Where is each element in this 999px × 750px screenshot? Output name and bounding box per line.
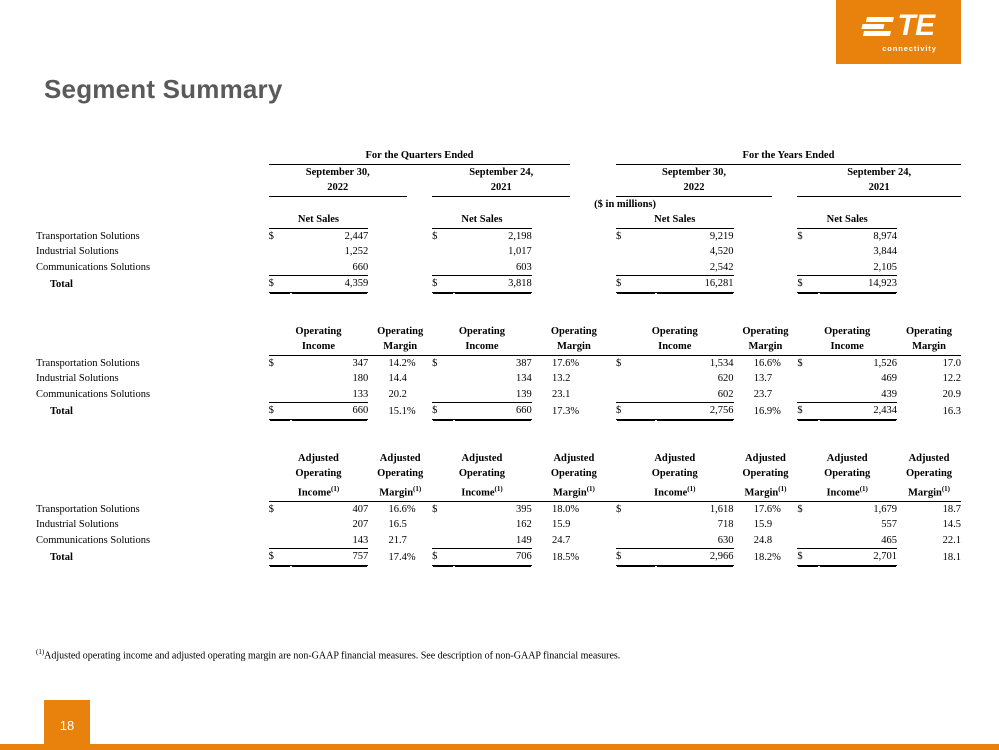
row-label-communications: Communications Solutions (36, 260, 269, 276)
table-row: Industrial Solutions 207 16.5 162 15.9 7… (36, 517, 961, 533)
row-label-communications: Communications Solutions (36, 387, 269, 403)
table-row: Communications Solutions 133 20.2 139 23… (36, 387, 961, 403)
cell-opmargin-y2022-total: 16.9 (734, 403, 773, 420)
footnote-marker: (1) (942, 485, 950, 493)
spacer-cell (772, 371, 797, 387)
spacer-cell (407, 244, 432, 260)
cell-adjincome-q2022-total: 757 (291, 549, 369, 566)
header-operating-l1-f: Operating (734, 324, 798, 340)
spacer-cell (269, 517, 291, 533)
header-operating-l1-d: Operating (532, 324, 616, 340)
currency-symbol: $ (432, 355, 454, 371)
spacer-cell (36, 212, 269, 228)
currency-symbol: $ (432, 403, 454, 420)
cell-adjmargin-q2021-industrial: 15.9 (532, 517, 571, 533)
cell-adjincome-q2022-industrial: 207 (291, 517, 369, 533)
footnote-marker: (1) (413, 485, 421, 493)
net-sales-header-row: Net Sales Net Sales Net Sales Net Sales (36, 212, 961, 228)
cell-adjmargin-q2022-industrial: 16.5 (368, 517, 407, 533)
cell-opincome-y2022-total: 2,756 (656, 403, 734, 420)
header-operating-l1-h: Operating (897, 324, 961, 340)
spacer-cell (407, 260, 432, 276)
spacer-cell (36, 466, 269, 482)
cell-opmargin-y2022-communications: 23.7 (734, 387, 773, 403)
spacer-cell (772, 260, 797, 276)
currency-symbol: $ (797, 276, 819, 293)
cell-opmargin-q2022-total: 15.1 (368, 403, 407, 420)
header-net-sales-y2022: Net Sales (616, 212, 734, 228)
cell-adjmargin-y2022-total: 18.2 (734, 549, 773, 566)
cell-opincome-q2021-total: 660 (454, 403, 532, 420)
units-note: ($ in millions) (570, 196, 656, 212)
spacer-cell (269, 260, 291, 276)
footnote-marker: (1) (860, 485, 868, 493)
cell-netsales-q2022-communications: 660 (291, 260, 369, 276)
cell-adjincome-q2021-total: 706 (454, 549, 532, 566)
group-header-quarters: For the Quarters Ended (269, 148, 571, 164)
logo-wordmark: TE (897, 11, 934, 41)
table-row-total: Total $ 4,359 $ 3,818 $ 16,281 $ 14,923 (36, 276, 961, 293)
spacer-cell (532, 244, 571, 260)
percent-symbol: % (570, 501, 616, 517)
header-adjusted-l1-a: Adjusted (269, 451, 369, 467)
cell-adjincome-q2021-communications: 149 (454, 533, 532, 549)
footnote-marker: (1) (587, 485, 595, 493)
cell-netsales-q2021-communications: 603 (454, 260, 532, 276)
spacer-cell (797, 517, 819, 533)
footnote-marker: (1) (331, 485, 339, 493)
spacer-cell (570, 533, 616, 549)
spacer-cell (368, 260, 407, 276)
period-y2021-line2: 2021 (797, 180, 961, 196)
cell-opmargin-q2022-industrial: 14.4 (368, 371, 407, 387)
cell-netsales-y2021-total: 14,923 (819, 276, 897, 293)
spacer-cell (797, 387, 819, 403)
currency-symbol: $ (432, 501, 454, 517)
row-label-total: Total (36, 403, 269, 420)
cell-adjincome-y2022-industrial: 718 (656, 517, 734, 533)
cell-opmargin-y2022-transportation: 16.6 (734, 355, 773, 371)
percent-symbol: % (407, 549, 432, 566)
period-q2021-line1: September 24, (432, 164, 570, 180)
cell-adjmargin-q2022-transportation: 16.6 (368, 501, 407, 517)
cell-adjmargin-q2021-communications: 24.7 (532, 533, 571, 549)
spacer-cell (368, 228, 407, 244)
period-y2021-line1: September 24, (797, 164, 961, 180)
currency-symbol: $ (269, 355, 291, 371)
logo-lockup: TE (862, 11, 934, 41)
cell-opincome-y2021-transportation: 1,526 (819, 355, 897, 371)
spacer-cell (36, 339, 269, 355)
spacer-cell (897, 244, 961, 260)
row-label-transportation: Transportation Solutions (36, 501, 269, 517)
period-y2022-line2: 2022 (616, 180, 772, 196)
spacer-cell (734, 228, 773, 244)
spacer-cell (616, 260, 656, 276)
spacer-cell (407, 387, 432, 403)
page-number: 18 (44, 700, 90, 750)
table-row: Industrial Solutions 180 14.4 134 13.2 6… (36, 371, 961, 387)
cell-netsales-y2021-industrial: 3,844 (819, 244, 897, 260)
spacer-cell (616, 244, 656, 260)
cell-opmargin-y2021-total: 16.3 (897, 403, 961, 420)
currency-symbol: $ (269, 228, 291, 244)
spacer-cell (407, 228, 432, 244)
adjusted-header-row-3: Income(1) Margin(1) Income(1) Margin(1) … (36, 482, 961, 502)
cell-netsales-q2022-total: 4,359 (291, 276, 369, 293)
header-text: Margin (379, 487, 413, 498)
row-label-industrial: Industrial Solutions (36, 517, 269, 533)
header-text: Margin (744, 487, 778, 498)
footer-accent-bar (0, 744, 999, 750)
cell-opmargin-q2021-communications: 23.1 (532, 387, 571, 403)
cell-opmargin-q2021-total: 17.3 (532, 403, 571, 420)
spacer-cell (407, 517, 432, 533)
spacer-cell (570, 164, 616, 180)
spacer-cell (432, 371, 454, 387)
cell-netsales-q2021-transportation: 2,198 (454, 228, 532, 244)
spacer-cell (36, 180, 269, 196)
header-operating-margin-q2021: Margin (532, 339, 616, 355)
spacer-cell (407, 180, 432, 196)
row-label-transportation: Transportation Solutions (36, 228, 269, 244)
cell-adjmargin-y2022-industrial: 15.9 (734, 517, 773, 533)
header-adjusted-l1-b: Adjusted (368, 451, 432, 467)
cell-netsales-q2021-total: 3,818 (454, 276, 532, 293)
header-net-sales-q2022: Net Sales (269, 212, 369, 228)
header-adjusted-l2-d: Operating (532, 466, 616, 482)
percent-symbol: % (407, 501, 432, 517)
currency-symbol: $ (269, 549, 291, 566)
spacer-cell (368, 276, 407, 293)
header-net-sales-q2021: Net Sales (432, 212, 532, 228)
header-text: Margin (908, 487, 942, 498)
cell-opmargin-y2021-communications: 20.9 (897, 387, 961, 403)
spacer-cell (616, 371, 656, 387)
header-operating-l1-a: Operating (269, 324, 369, 340)
cell-adjmargin-y2022-communications: 24.8 (734, 533, 773, 549)
header-operating-income-y2021: Income (797, 339, 897, 355)
header-adjincome-q2021: Income(1) (432, 482, 532, 502)
spacer-cell (532, 260, 571, 276)
period-date-row-1: September 30, September 24, September 30… (36, 164, 961, 180)
spacer-cell (772, 228, 797, 244)
cell-adjincome-y2021-communications: 465 (819, 533, 897, 549)
cell-adjincome-q2022-transportation: 407 (291, 501, 369, 517)
spacer-cell (432, 260, 454, 276)
te-bars-icon (860, 17, 894, 36)
currency-symbol: $ (616, 276, 656, 293)
header-adjmargin-q2021: Margin(1) (532, 482, 616, 502)
spacer-cell (407, 533, 432, 549)
spacer-cell (407, 164, 432, 180)
cell-adjmargin-y2021-industrial: 14.5 (897, 517, 961, 533)
percent-symbol: % (570, 355, 616, 371)
header-operating-income-y2022: Income (616, 339, 734, 355)
cell-adjmargin-y2021-communications: 22.1 (897, 533, 961, 549)
header-adjmargin-q2022: Margin(1) (368, 482, 432, 502)
cell-adjmargin-q2022-total: 17.4 (368, 549, 407, 566)
spacer-cell (772, 533, 797, 549)
spacer-cell (36, 148, 269, 164)
spacer-cell (734, 260, 773, 276)
currency-symbol: $ (432, 549, 454, 566)
header-adjusted-l2-e: Operating (616, 466, 734, 482)
spacer-cell (897, 276, 961, 293)
cell-adjincome-y2021-total: 2,701 (819, 549, 897, 566)
spacer-cell (432, 244, 454, 260)
row-label-total: Total (36, 549, 269, 566)
header-adjusted-l1-f: Adjusted (734, 451, 798, 467)
cell-opmargin-y2021-transportation: 17.0 (897, 355, 961, 371)
spacer-cell (616, 517, 656, 533)
section-spacer (36, 308, 961, 324)
cell-opmargin-q2021-industrial: 13.2 (532, 371, 571, 387)
spacer-cell (570, 228, 616, 244)
header-operating-income-q2022: Income (269, 339, 369, 355)
section-spacer (36, 435, 961, 451)
cell-adjincome-y2021-transportation: 1,679 (819, 501, 897, 517)
adjusted-header-row-2: Operating Operating Operating Operating … (36, 466, 961, 482)
spacer-cell (772, 244, 797, 260)
period-date-row-2: 2022 2021 2022 2021 (36, 180, 961, 196)
cell-adjincome-q2022-communications: 143 (291, 533, 369, 549)
spacer-cell (368, 212, 432, 228)
te-connectivity-logo: TE connectivity (836, 0, 961, 64)
cell-opincome-q2021-transportation: 387 (454, 355, 532, 371)
cell-netsales-y2021-transportation: 8,974 (819, 228, 897, 244)
spacer-cell (772, 276, 797, 293)
cell-netsales-q2021-industrial: 1,017 (454, 244, 532, 260)
cell-opincome-y2022-industrial: 620 (656, 371, 734, 387)
header-adjincome-y2021: Income(1) (797, 482, 897, 502)
period-q2021-line2: 2021 (432, 180, 570, 196)
header-adjusted-l2-a: Operating (269, 466, 369, 482)
cell-adjincome-y2022-total: 2,966 (656, 549, 734, 566)
header-net-sales-y2021: Net Sales (797, 212, 897, 228)
cell-adjmargin-q2022-communications: 21.7 (368, 533, 407, 549)
cell-opincome-q2022-industrial: 180 (291, 371, 369, 387)
percent-symbol: % (570, 403, 616, 420)
percent-symbol: % (772, 549, 797, 566)
header-operating-l1-e: Operating (616, 324, 734, 340)
table-row: Transportation Solutions $ 2,447 $ 2,198… (36, 228, 961, 244)
spacer-cell (734, 244, 773, 260)
table-row: Transportation Solutions $ 347 14.2 % $ … (36, 355, 961, 371)
cell-adjincome-q2021-industrial: 162 (454, 517, 532, 533)
spacer-cell (36, 196, 570, 212)
spacer-cell (734, 212, 798, 228)
cell-opmargin-q2022-communications: 20.2 (368, 387, 407, 403)
spacer-cell (36, 324, 269, 340)
header-text: Margin (553, 487, 587, 498)
cell-opincome-y2021-communications: 439 (819, 387, 897, 403)
row-label-total: Total (36, 276, 269, 293)
spacer-cell (407, 371, 432, 387)
spacer-cell (36, 164, 269, 180)
header-adjmargin-y2022: Margin(1) (734, 482, 798, 502)
spacer-cell (432, 387, 454, 403)
page-title: Segment Summary (44, 74, 283, 105)
currency-symbol: $ (797, 501, 819, 517)
units-note-row: ($ in millions) (36, 196, 961, 212)
header-adjusted-l1-h: Adjusted (897, 451, 961, 467)
currency-symbol: $ (616, 228, 656, 244)
currency-symbol: $ (797, 549, 819, 566)
header-adjincome-q2022: Income(1) (269, 482, 369, 502)
currency-symbol: $ (797, 355, 819, 371)
footnote: (1)Adjusted operating income and adjuste… (36, 648, 620, 661)
header-operating-income-q2021: Income (432, 339, 532, 355)
header-adjusted-l1-d: Adjusted (532, 451, 616, 467)
table-row: Communications Solutions 660 603 2,542 2… (36, 260, 961, 276)
spacer-cell (772, 517, 797, 533)
percent-symbol: % (407, 355, 432, 371)
spacer-cell (570, 517, 616, 533)
spacer-cell (897, 212, 961, 228)
cell-opincome-q2021-communications: 139 (454, 387, 532, 403)
header-text: Income (826, 487, 859, 498)
currency-symbol: $ (616, 501, 656, 517)
spacer-cell (772, 164, 797, 180)
cell-opmargin-q2021-transportation: 17.6 (532, 355, 571, 371)
header-adjusted-l2-b: Operating (368, 466, 432, 482)
header-operating-l1-b: Operating (368, 324, 432, 340)
spacer-cell (432, 533, 454, 549)
header-adjusted-l1-e: Adjusted (616, 451, 734, 467)
row-label-communications: Communications Solutions (36, 533, 269, 549)
currency-symbol: $ (616, 549, 656, 566)
spacer-cell (656, 196, 961, 212)
period-q2022-line1: September 30, (269, 164, 407, 180)
cell-opincome-q2022-transportation: 347 (291, 355, 369, 371)
group-header-years: For the Years Ended (616, 148, 961, 164)
spacer-cell (734, 276, 773, 293)
spacer-cell (570, 260, 616, 276)
spacer-cell (269, 371, 291, 387)
period-group-header-row: For the Quarters Ended For the Years End… (36, 148, 961, 164)
currency-symbol: $ (432, 276, 454, 293)
cell-adjmargin-q2021-transportation: 18.0 (532, 501, 571, 517)
cell-opmargin-y2022-industrial: 13.7 (734, 371, 773, 387)
spacer-cell (797, 533, 819, 549)
header-adjmargin-y2021: Margin(1) (897, 482, 961, 502)
cell-opincome-y2022-communications: 602 (656, 387, 734, 403)
spacer-cell (616, 387, 656, 403)
spacer-cell (797, 371, 819, 387)
header-adjincome-y2022: Income(1) (616, 482, 734, 502)
currency-symbol: $ (269, 403, 291, 420)
currency-symbol: $ (616, 355, 656, 371)
percent-symbol: % (570, 549, 616, 566)
period-y2022-line1: September 30, (616, 164, 772, 180)
cell-opincome-q2021-industrial: 134 (454, 371, 532, 387)
adjusted-header-row-1: Adjusted Adjusted Adjusted Adjusted Adju… (36, 451, 961, 467)
spacer-cell (36, 482, 269, 502)
currency-symbol: $ (797, 228, 819, 244)
currency-symbol: $ (616, 403, 656, 420)
header-text: Income (461, 487, 494, 498)
spacer-cell (269, 244, 291, 260)
cell-adjincome-q2021-transportation: 395 (454, 501, 532, 517)
row-label-industrial: Industrial Solutions (36, 244, 269, 260)
header-adjusted-l2-c: Operating (432, 466, 532, 482)
footnote-marker: (1) (778, 485, 786, 493)
cell-adjmargin-y2021-total: 18.1 (897, 549, 961, 566)
spacer-cell (797, 260, 819, 276)
section-spacer (36, 292, 961, 308)
cell-adjmargin-q2021-total: 18.5 (532, 549, 571, 566)
cell-opmargin-y2021-industrial: 12.2 (897, 371, 961, 387)
logo-tagline: connectivity (882, 44, 937, 53)
cell-adjincome-y2022-transportation: 1,618 (656, 501, 734, 517)
percent-symbol: % (772, 501, 797, 517)
header-operating-margin-y2021: Margin (897, 339, 961, 355)
cell-opincome-y2021-total: 2,434 (819, 403, 897, 420)
cell-netsales-y2022-communications: 2,542 (656, 260, 734, 276)
table-row: Communications Solutions 143 21.7 149 24… (36, 533, 961, 549)
spacer-cell (570, 371, 616, 387)
footnote-marker: (1) (494, 485, 502, 493)
table-row: Industrial Solutions 1,252 1,017 4,520 3… (36, 244, 961, 260)
header-adjusted-l2-g: Operating (797, 466, 897, 482)
percent-symbol: % (772, 355, 797, 371)
spacer-cell (407, 276, 432, 293)
cell-opincome-q2022-total: 660 (291, 403, 369, 420)
cell-adjmargin-y2021-transportation: 18.7 (897, 501, 961, 517)
cell-netsales-q2022-industrial: 1,252 (291, 244, 369, 260)
spacer-cell (269, 533, 291, 549)
header-adjusted-l1-c: Adjusted (432, 451, 532, 467)
cell-opincome-y2022-transportation: 1,534 (656, 355, 734, 371)
cell-opincome-y2021-industrial: 469 (819, 371, 897, 387)
currency-symbol: $ (269, 501, 291, 517)
header-adjusted-l2-h: Operating (897, 466, 961, 482)
header-adjusted-l1-g: Adjusted (797, 451, 897, 467)
table-row-total: Total $ 660 15.1 % $ 660 17.3 % $ 2,756 … (36, 403, 961, 420)
cell-opmargin-q2022-transportation: 14.2 (368, 355, 407, 371)
header-operating-l1-g: Operating (797, 324, 897, 340)
currency-symbol: $ (269, 276, 291, 293)
spacer-cell (532, 228, 571, 244)
cell-adjincome-y2021-industrial: 557 (819, 517, 897, 533)
cell-netsales-q2022-transportation: 2,447 (291, 228, 369, 244)
cell-opincome-q2022-communications: 133 (291, 387, 369, 403)
spacer-cell (797, 244, 819, 260)
spacer-cell (432, 517, 454, 533)
table-row-total: Total $ 757 17.4 % $ 706 18.5 % $ 2,966 … (36, 549, 961, 566)
spacer-cell (570, 148, 616, 164)
spacer-cell (269, 387, 291, 403)
currency-symbol: $ (797, 403, 819, 420)
header-operating-l1-c: Operating (432, 324, 532, 340)
cell-adjmargin-y2022-transportation: 17.6 (734, 501, 773, 517)
cell-netsales-y2021-communications: 2,105 (819, 260, 897, 276)
footnote-marker: (1) (687, 485, 695, 493)
spacer-cell (772, 180, 797, 196)
header-text: Income (654, 487, 687, 498)
footnote-text: Adjusted operating income and adjusted o… (44, 650, 620, 661)
spacer-cell (532, 212, 616, 228)
spacer-cell (570, 387, 616, 403)
cell-netsales-y2022-industrial: 4,520 (656, 244, 734, 260)
segment-summary-table: For the Quarters Ended For the Years End… (36, 148, 961, 566)
header-text: Income (298, 487, 331, 498)
spacer-cell (532, 276, 571, 293)
header-operating-margin-q2022: Margin (368, 339, 432, 355)
table-row: Transportation Solutions $ 407 16.6 % $ … (36, 501, 961, 517)
row-label-industrial: Industrial Solutions (36, 371, 269, 387)
